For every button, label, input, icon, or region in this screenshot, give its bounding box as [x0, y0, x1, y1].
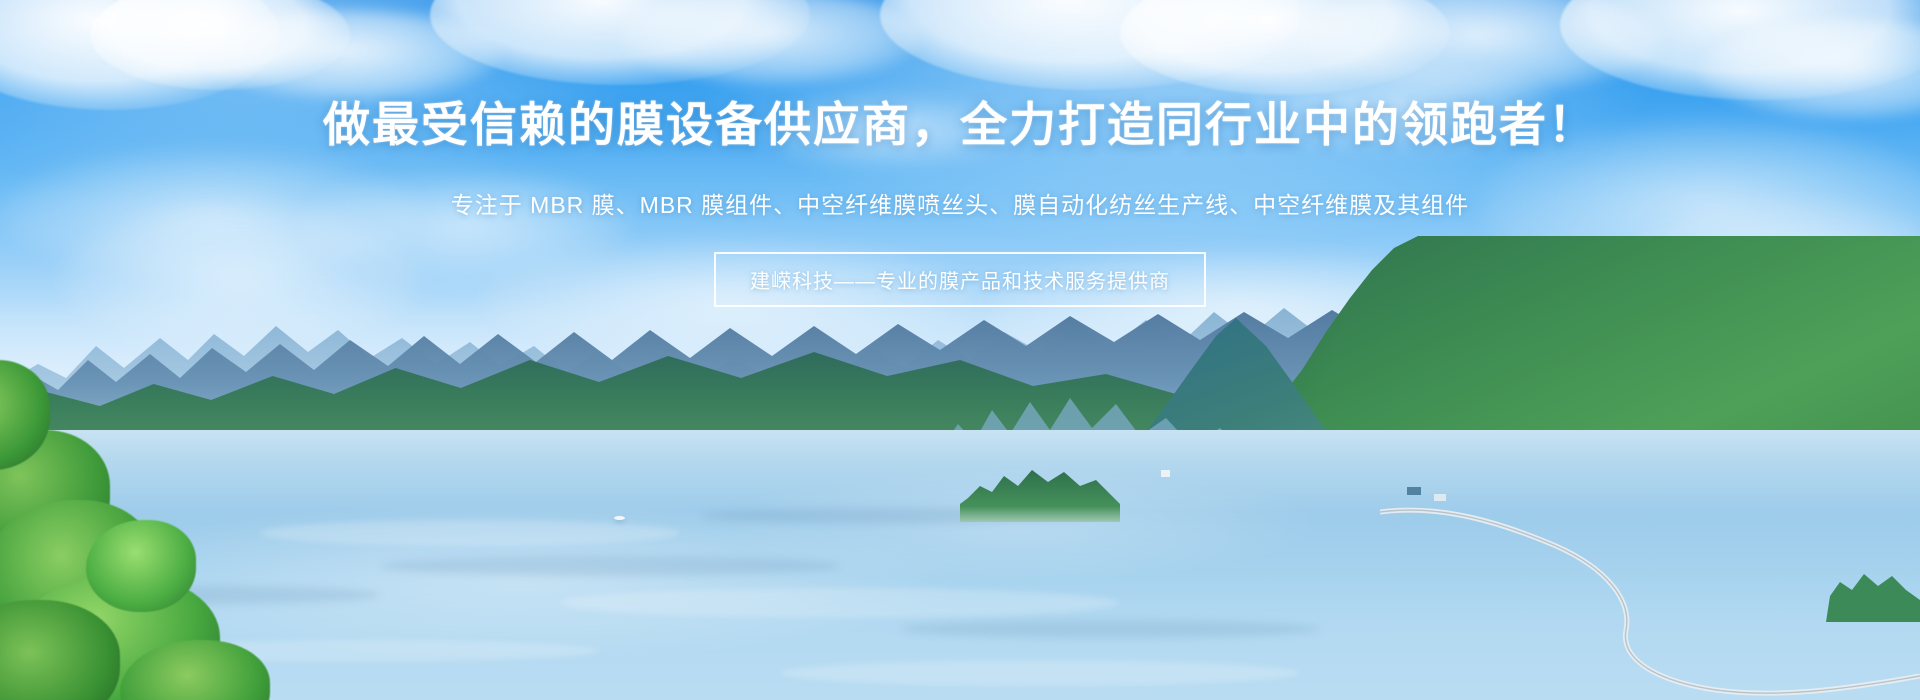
hero-banner: 做最受信赖的膜设备供应商，全力打造同行业中的领跑者！ 专注于 MBR 膜、MBR…: [0, 0, 1920, 700]
banner-subheadline: 专注于 MBR 膜、MBR 膜组件、中空纤维膜喷丝头、膜自动化纺丝生产线、中空纤…: [0, 152, 1920, 220]
banner-text-block: 做最受信赖的膜设备供应商，全力打造同行业中的领跑者！ 专注于 MBR 膜、MBR…: [0, 0, 1920, 307]
banner-headline: 做最受信赖的膜设备供应商，全力打造同行业中的领跑者！: [0, 0, 1920, 152]
banner-tagline-box: 建嵘科技——专业的膜产品和技术服务提供商: [714, 252, 1206, 307]
boat: [614, 516, 625, 520]
lake-island: [960, 452, 1120, 522]
mountain-road: [1380, 450, 1920, 700]
